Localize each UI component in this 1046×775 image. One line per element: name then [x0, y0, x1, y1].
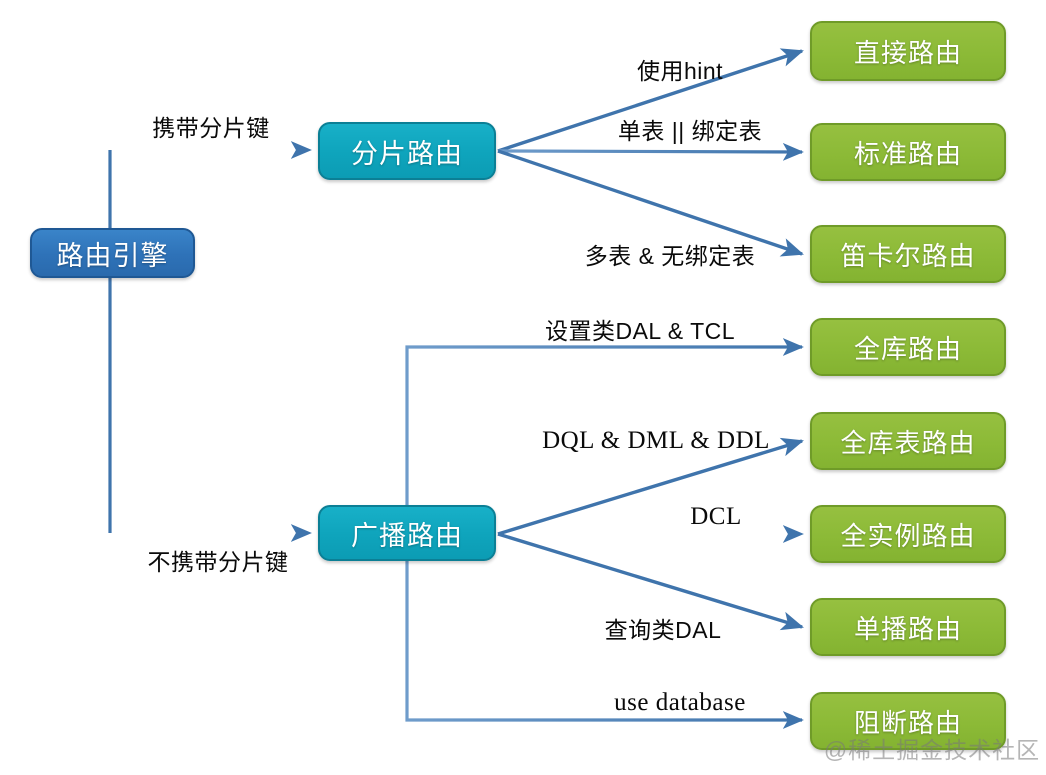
edge-label-dql-dml-ddl: DQL & DML & DDL: [542, 427, 770, 455]
node-all-instance-routing[interactable]: 全实例路由: [810, 505, 1006, 563]
edge-label-multi-table-no-binding: 多表 & 无绑定表: [585, 237, 756, 271]
node-shard-routing-label: 分片路由: [351, 132, 463, 171]
node-cartesian-routing[interactable]: 笛卡尔路由: [810, 225, 1006, 283]
node-all-instance-routing-label: 全实例路由: [840, 516, 975, 553]
edge-label-query-dal: 查询类DAL: [605, 611, 722, 645]
node-all-database-table-routing[interactable]: 全库表路由: [810, 412, 1006, 470]
node-standard-routing[interactable]: 标准路由: [810, 123, 1006, 181]
node-cartesian-routing-label: 笛卡尔路由: [840, 236, 975, 273]
edge-label-single-or-binding-table: 单表 || 绑定表: [618, 112, 762, 146]
node-all-database-table-routing-label: 全库表路由: [840, 423, 975, 460]
node-unicast-routing-label: 单播路由: [854, 609, 962, 646]
node-broadcast-routing[interactable]: 广播路由: [318, 505, 496, 561]
node-all-database-routing-label: 全库路由: [854, 329, 962, 366]
node-routing-engine[interactable]: 路由引擎: [30, 228, 195, 278]
node-direct-routing[interactable]: 直接路由: [810, 21, 1006, 81]
watermark: @稀土掘金技术社区: [824, 731, 1040, 765]
edge-broadcast-to-alldb: [407, 347, 802, 505]
node-shard-routing[interactable]: 分片路由: [318, 122, 496, 180]
node-broadcast-routing-label: 广播路由: [351, 514, 463, 553]
edge-shard-to-standard: [498, 151, 802, 152]
node-all-database-routing[interactable]: 全库路由: [810, 318, 1006, 376]
node-routing-engine-label: 路由引擎: [57, 234, 169, 273]
edge-label-without-shard-key: 不携带分片键: [148, 543, 289, 577]
edge-label-config-dal-tcl: 设置类DAL & TCL: [545, 312, 735, 346]
edge-label-use-database: use database: [614, 689, 746, 717]
edge-label-use-hint: 使用hint: [637, 52, 723, 86]
edge-label-dcl: DCL: [690, 503, 742, 531]
node-standard-routing-label: 标准路由: [854, 134, 962, 171]
node-direct-routing-label: 直接路由: [854, 33, 962, 70]
diagram-canvas: 路由引擎 分片路由 广播路由 直接路由 标准路由 笛卡尔路由 全库路由 全库表路…: [0, 0, 1046, 775]
edge-label-with-shard-key: 携带分片键: [152, 109, 270, 143]
node-unicast-routing[interactable]: 单播路由: [810, 598, 1006, 656]
